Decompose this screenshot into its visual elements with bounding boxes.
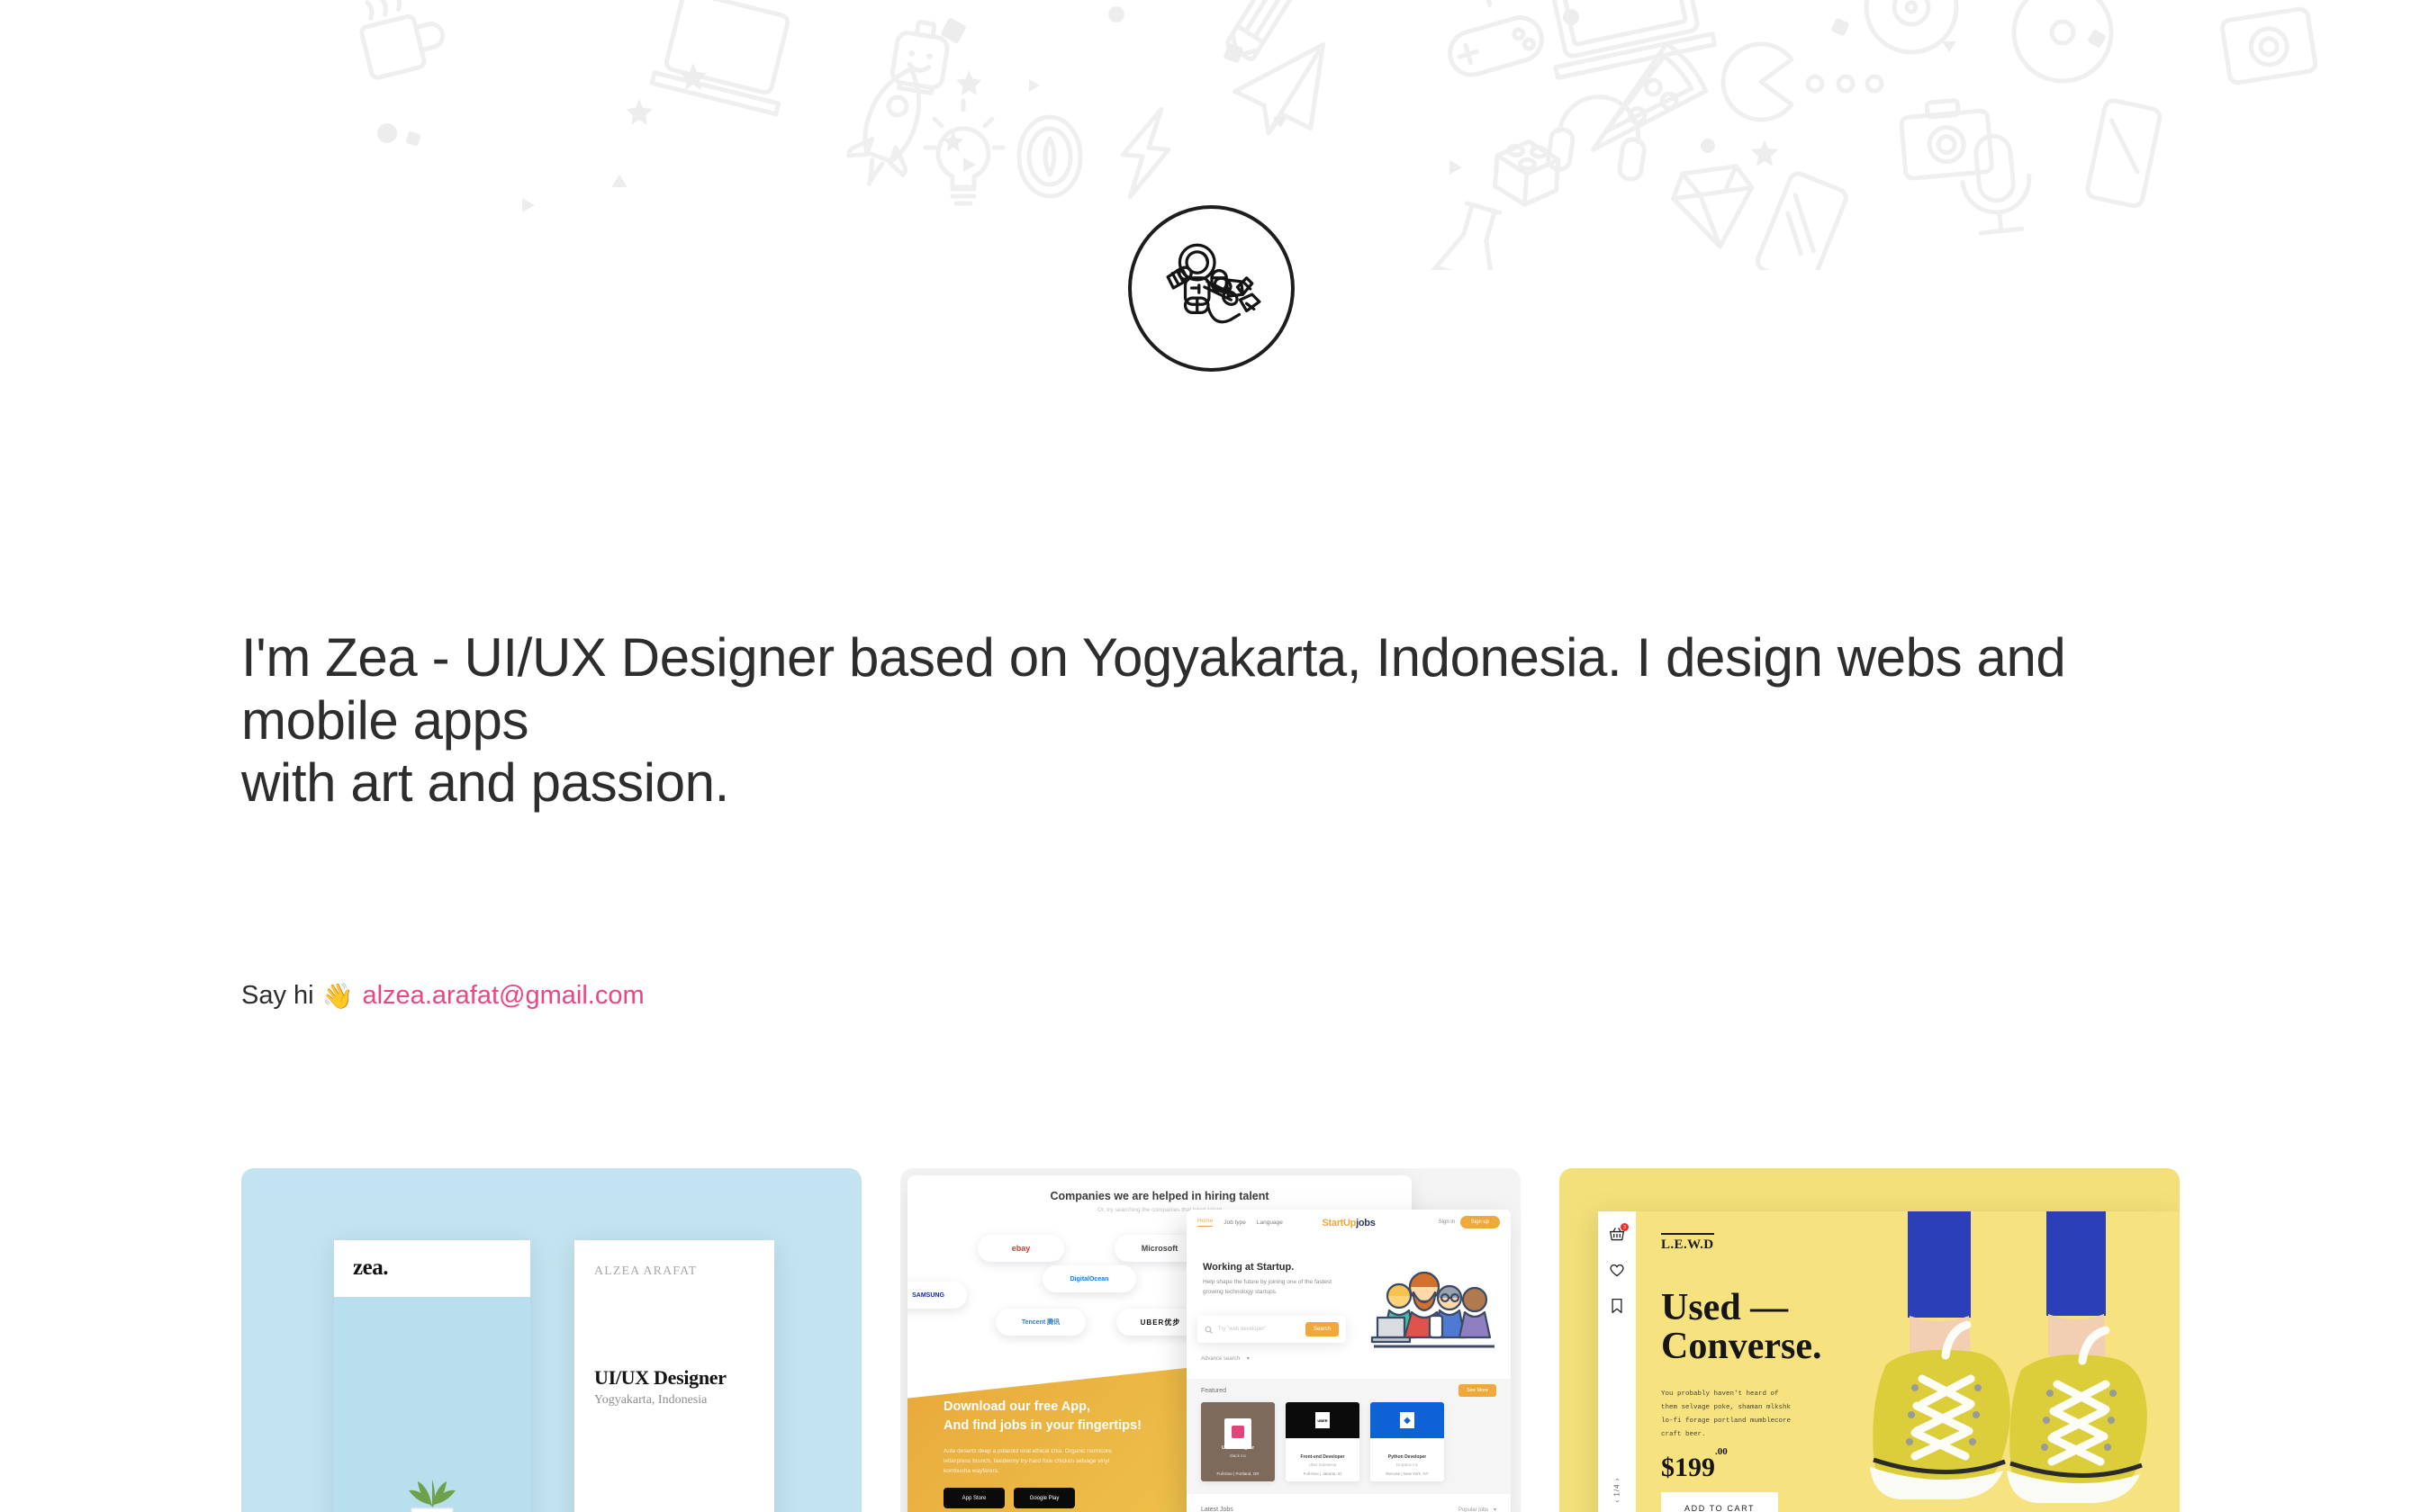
smartphone-icon	[2086, 99, 2162, 207]
job-card-3[interactable]: ◆ Python Developer Dropbox Inc Remote | …	[1370, 1402, 1444, 1481]
job-meta-1: Full-time | Portland, OR	[1201, 1471, 1275, 1476]
vinyl-record-icon	[2014, 0, 2111, 81]
dropbox-logo-icon: ◆	[1400, 1412, 1414, 1428]
business-card-name: ALZEA ARAFAT	[594, 1264, 697, 1279]
product-title: Used — Converse.	[1661, 1289, 1821, 1366]
startupjobs-logo: StartUpjobs	[1322, 1218, 1375, 1228]
shop-brand-logo: L.E.W.D	[1661, 1233, 1714, 1253]
job-company-3: Dropbox Inc	[1370, 1462, 1444, 1467]
app-promo-body: Aute deserts deep a polaroid viral ethic…	[944, 1446, 1124, 1476]
diamond-icon	[1670, 165, 1759, 252]
portfolio-landing-page: I'm Zea - UI/UX Designer based on Yogyak…	[0, 0, 2420, 1512]
rocket-icon	[842, 58, 939, 193]
product-photo	[1829, 1211, 2180, 1512]
microphone-icon	[1958, 132, 2035, 234]
heart-icon[interactable]	[1609, 1262, 1625, 1278]
job-search-bar[interactable]: Try "web developer" Search	[1197, 1316, 1346, 1343]
logo-word-startup: StartUp	[1322, 1218, 1356, 1228]
lego-brick-icon	[1494, 139, 1559, 207]
smartphone-icon	[1755, 171, 1848, 270]
price-dollars: $199	[1661, 1453, 1715, 1482]
job-role-1: UI/UX Designer	[1201, 1445, 1275, 1451]
popular-jobs-label: Popular jobs	[1458, 1507, 1488, 1512]
coffee-mug-icon	[355, 0, 449, 79]
yellow-converse-shoes-image	[1829, 1211, 2180, 1512]
job-search-button[interactable]: Search	[1305, 1322, 1339, 1336]
shopping-basket-icon[interactable]: 3	[1609, 1226, 1625, 1242]
potted-plant-icon	[394, 1458, 470, 1512]
say-hi-label: Say hi	[241, 979, 314, 1013]
site-logo[interactable]	[1128, 205, 1295, 372]
app-promo-heading: Download our free App, And find jobs in …	[944, 1398, 1142, 1435]
sign-in-link[interactable]: Sign in	[1439, 1219, 1455, 1225]
latest-jobs-label: Latest Jobs	[1201, 1507, 1233, 1512]
project-card-branding[interactable]: zea. ALZEA ARAFAT UI/UX Designer Yo	[241, 1168, 862, 1512]
project-card-grid: zea. ALZEA ARAFAT UI/UX Designer Yo	[241, 1168, 2179, 1512]
google-play-badge[interactable]: Google Play	[1014, 1488, 1075, 1508]
advance-search-toggle[interactable]: Advance search ▾	[1201, 1355, 1250, 1362]
email-link[interactable]: alzea.arafat@gmail.com	[362, 979, 644, 1013]
lightning-bolt-icon	[1119, 106, 1172, 200]
scatter-shapes	[377, 6, 2107, 212]
camera-icon	[2221, 8, 2316, 84]
price-cents: .00	[1715, 1446, 1728, 1457]
jobs-hero-subtitle: Help shape the future by joining one of …	[1203, 1277, 1338, 1298]
product-price: $199.00	[1661, 1453, 1728, 1483]
camera-icon	[1900, 98, 1992, 179]
search-icon	[1205, 1326, 1213, 1334]
shop-pagination[interactable]: ‹ 1/4 ›	[1613, 1478, 1621, 1503]
paper-plane-icon	[1231, 36, 1323, 138]
cart-count-badge: 3	[1621, 1223, 1629, 1231]
chevron-down-icon: ▾	[1247, 1356, 1250, 1362]
job-role-2: Front-end Developer	[1286, 1454, 1359, 1460]
vinyl-record-icon	[1866, 0, 1956, 52]
gamepad-icon	[1434, 0, 1550, 80]
job-meta-2: Full-time | Jakarta, ID	[1286, 1471, 1359, 1476]
job-company-1: Slack Inc	[1201, 1453, 1275, 1458]
job-role-3: Python Developer	[1370, 1454, 1444, 1460]
advance-search-label: Advance search	[1201, 1356, 1240, 1362]
logo-pill-samsung: SAMSUNG	[907, 1282, 967, 1309]
hero-headline: I'm Zea - UI/UX Designer based on Yogyak…	[241, 626, 2105, 814]
companies-title: Companies we are helped in hiring talent	[907, 1190, 1412, 1202]
astronaut-logo-icon	[1157, 234, 1267, 344]
pizza-icon	[1593, 34, 1712, 166]
project-card-lewd-shop[interactable]: 3 ‹ 1/4 ›	[1559, 1168, 2180, 1512]
laptop-icon	[652, 0, 799, 114]
add-to-cart-button[interactable]: ADD TO CART	[1661, 1492, 1778, 1512]
job-company-2: Uber Indonesia	[1286, 1462, 1359, 1467]
logo-circle	[1128, 205, 1295, 372]
business-card-role: UI/UX Designer	[594, 1366, 727, 1390]
shop-side-rail: 3 ‹ 1/4 ›	[1598, 1211, 1636, 1512]
nav-home[interactable]: Home	[1197, 1218, 1213, 1227]
nav-job-type[interactable]: Job type	[1224, 1219, 1246, 1226]
zea-logo-text: zea.	[353, 1255, 388, 1281]
logo-pill-ebay: ebay	[978, 1235, 1064, 1262]
team-illustration-icon	[1367, 1260, 1502, 1359]
compass-icon	[1019, 117, 1080, 196]
pacman-icon	[1723, 44, 1882, 120]
shop-page: 3 ‹ 1/4 ›	[1598, 1211, 2180, 1512]
lego-head-icon	[890, 19, 951, 94]
see-more-button[interactable]: See More	[1458, 1384, 1496, 1397]
uber-logo-icon: UBER	[1315, 1412, 1330, 1428]
logo-pill-digitalocean: DigitalOcean	[1043, 1265, 1136, 1292]
job-search-placeholder: Try "web developer"	[1218, 1327, 1300, 1332]
featured-label: Featured	[1201, 1388, 1226, 1394]
waving-hand-icon: 👋	[322, 984, 354, 1009]
slack-logo-icon	[1232, 1426, 1244, 1438]
job-card-2[interactable]: UBER Front-end Developer Uber Indonesia …	[1286, 1402, 1359, 1481]
job-card-1[interactable]: UI/UX Designer Slack Inc Full-time | Por…	[1201, 1402, 1275, 1481]
headphones-icon	[1547, 91, 1650, 181]
logo-pill-tencent: Tencent 腾讯	[996, 1309, 1086, 1336]
lightbulb-icon	[926, 101, 1003, 203]
sign-up-button[interactable]: Sign up	[1460, 1216, 1500, 1228]
job-meta-3: Remote | New York, NY	[1370, 1471, 1444, 1476]
pager-next-icon[interactable]: ›	[1613, 1478, 1621, 1481]
business-card: ALZEA ARAFAT UI/UX Designer Yogyakarta, …	[574, 1240, 774, 1512]
app-store-badge[interactable]: App Store	[944, 1488, 1005, 1508]
popular-jobs-dropdown[interactable]: Popular jobs ▾	[1458, 1507, 1496, 1512]
bookmark-icon[interactable]	[1609, 1298, 1625, 1314]
logo-word-jobs: jobs	[1356, 1218, 1375, 1228]
jobs-hero-title: Working at Startup.	[1203, 1262, 1294, 1273]
flask-icon	[1423, 198, 1519, 270]
pager-value: 1/4	[1613, 1483, 1621, 1496]
pager-prev-icon[interactable]: ‹	[1613, 1499, 1621, 1503]
contact-line: Say hi 👋 alzea.arafat@gmail.com	[241, 979, 645, 1013]
product-description: You probably haven't heard of them selva…	[1661, 1388, 1794, 1442]
laptop-icon	[1536, 0, 1714, 77]
chevron-down-icon: ▾	[1494, 1507, 1496, 1512]
business-card-location: Yogyakarta, Indonesia	[594, 1393, 707, 1408]
pencil-icon	[1224, 0, 1305, 64]
project-card-startupjobs[interactable]: Companies we are helped in hiring talent…	[900, 1168, 1521, 1512]
brand-poster: zea.	[334, 1240, 530, 1512]
nav-language[interactable]: Language	[1257, 1219, 1283, 1226]
jobs-front-page: Home Job type Language StartUpjobs Sign …	[1187, 1210, 1511, 1512]
